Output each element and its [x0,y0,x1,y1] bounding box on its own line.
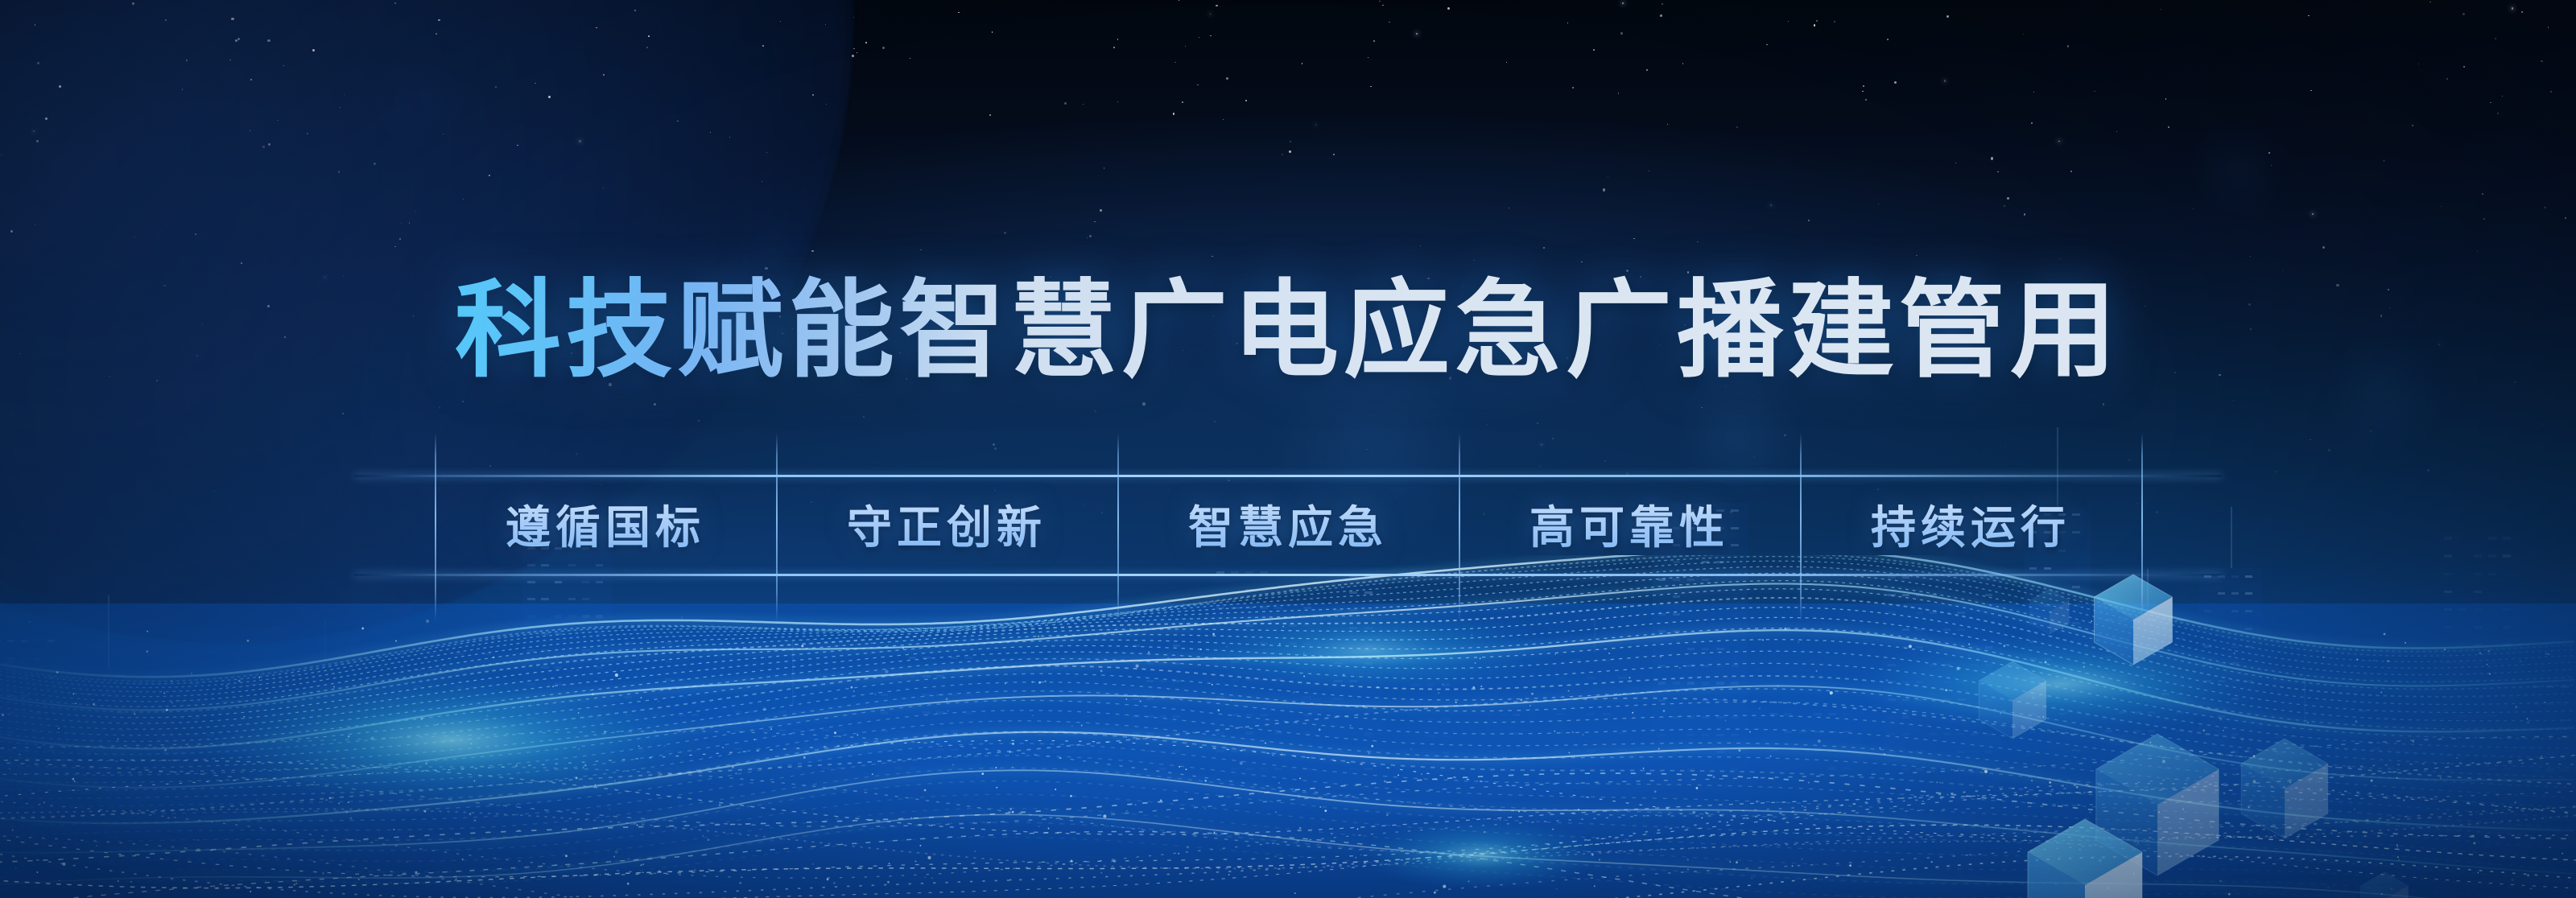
wave-particle [834,731,836,734]
star [1660,14,1662,17]
wave-particle [74,781,76,782]
star [853,48,854,49]
star [1004,232,1006,234]
star [1174,62,1175,63]
wave-particle [2091,620,2092,622]
wave-particle [1455,702,1457,703]
wave-particle [29,621,31,623]
wave-particle [1319,806,1321,808]
bokeh-circle [2190,121,2286,217]
wave-particle [708,838,710,841]
wave-particle [1970,854,1972,856]
wave-particle [1070,795,1072,797]
wave-particle [474,819,477,822]
wave-particle [2133,873,2135,875]
wave-particle [118,739,119,740]
wave-particle [1350,725,1352,727]
wave-particle [2234,653,2235,654]
star [2060,258,2061,259]
wave-particle [2242,739,2244,740]
star [1197,84,1198,85]
wave-particle [1230,700,1232,702]
wave-particle [637,825,638,826]
wave-particle [2307,722,2309,723]
wave-particle [2541,756,2543,758]
wave-particle [2355,720,2358,723]
wave-particle [1777,685,1779,686]
wave-particle [1386,814,1389,816]
wave-particle [2545,702,2546,703]
wave-particle [1480,686,1482,687]
star [1389,22,1389,23]
wave-particle [1759,707,1761,709]
wave-particle [1217,709,1220,711]
wave-particle [641,864,642,866]
wave-particle [171,702,173,703]
star [1662,3,1663,5]
wave-particle [118,880,119,882]
star [2463,66,2465,68]
wave-particle [952,764,954,765]
wave-particle [2148,847,2149,849]
wave-particle [708,869,710,871]
wave-particle [1756,801,1758,803]
wave-particle [2397,856,2399,858]
subtitle-item-3: 高可靠性 [1459,492,1800,557]
star [1509,208,1509,208]
star [992,31,993,32]
star [1997,171,1998,172]
wave-particle [75,702,76,704]
wave-particle [1888,826,1889,828]
wave-particle [1100,872,1102,874]
wave-particle [1368,752,1370,754]
wave-particle [609,809,611,810]
star [2495,38,2496,39]
wave-particle [1696,787,1699,789]
wave-particle [801,645,803,648]
wave-particle [1749,731,1751,733]
wave-particle [1984,770,1988,773]
wave-particle [2252,780,2256,783]
wave-particle [250,891,251,892]
wave-particle [1554,731,1555,732]
wave-particle [2403,800,2405,801]
star [1104,167,1104,168]
wave-particle [294,884,295,886]
wave-particle [2269,759,2271,760]
star [1816,20,1818,22]
wave-particle [658,870,661,872]
star [1622,2,1624,4]
wave-particle [257,800,258,801]
wave-particle [1126,810,1128,812]
star [1758,392,1759,393]
wave-particle [393,829,394,830]
wave-particle [1663,710,1666,712]
wave-particle [493,657,494,658]
wave-particle [15,867,17,869]
star [1210,35,1211,36]
wave-particle [358,879,360,880]
star [2094,91,2095,92]
wave-particle [1186,768,1187,770]
wave-particle [1578,809,1579,810]
star [2483,218,2484,219]
wave-particle [1009,808,1012,810]
wave-particle [2373,660,2375,661]
wave-particle [1204,780,1207,782]
subtitle-item-1: 守正创新 [776,492,1117,557]
wave-particle [2289,781,2291,783]
star [1916,255,1917,256]
wave-particle [43,801,45,803]
wave-particle [1384,781,1386,783]
star [1834,21,1835,23]
star [993,443,995,446]
wave-particle [1931,861,1933,863]
wave-particle [848,747,850,748]
wave-particle [171,681,172,682]
wave-particle [2107,887,2109,889]
star [2446,78,2448,80]
wave-particle [1725,720,1727,722]
wave-particle [1397,774,1399,776]
wave-particle [833,882,836,884]
star [2462,13,2465,15]
star [1944,80,1946,81]
wave-particle [1830,691,1833,694]
star [2384,160,2384,161]
wave-particle [1879,747,1881,749]
star [1697,241,1698,242]
tech-banner: 科技赋能智慧广电应急广播建管用 遵循国标 守正创新 智慧应急 高可靠性 持续运行 [0,0,2576,898]
wave-particle [1554,653,1556,655]
star [1223,119,1224,120]
wave-particle [1643,768,1645,769]
wave-particle [1713,776,1715,778]
star [1179,0,1179,1]
star [2165,98,2166,99]
wave-particle [1009,879,1011,880]
wave-particle [615,673,618,677]
star [2550,91,2552,93]
wave-particle [2253,755,2256,757]
wave-particle [1736,861,1738,863]
wave-particle [1212,684,1213,686]
star [1212,256,1212,257]
wave-particle [2444,649,2446,650]
wave-particle [1319,728,1321,731]
wave-particle [197,839,199,841]
wave-particle [2089,811,2091,814]
wave-particle [1687,868,1689,870]
wave-particle [931,877,933,879]
wave-particle [1434,892,1436,894]
star [1955,163,1956,163]
wave-particle [681,616,683,618]
wave-particle [2527,718,2529,719]
wave-particle [1647,691,1649,693]
wave-particle [2158,811,2160,813]
wave-particle [791,629,793,632]
wave-particle [2515,706,2517,708]
wave-particle [902,648,904,649]
star [1214,421,1216,422]
wave-particle [98,810,100,812]
wave-particle [27,812,29,814]
wave-particle [1012,743,1014,745]
star [1667,124,1668,125]
wave-particle [1299,827,1302,830]
wave-particle [469,813,472,815]
wave-particle [1556,888,1558,890]
wave-particle [1802,805,1803,807]
star [1182,101,1183,103]
wave-particle [93,703,95,706]
wave-particle [1275,855,1277,857]
wave-particle [72,778,75,781]
wave-particle [919,845,921,847]
wave-particle [1802,859,1803,860]
wave-particle [62,863,65,866]
wave-particle [415,871,418,874]
star [1100,209,1102,212]
wave-particle [1125,698,1127,700]
star [1245,100,1247,101]
subtitle-items: 遵循国标 守正创新 智慧应急 高可靠性 持续运行 [0,475,2576,574]
wave-particle [874,694,876,695]
wave-particle [1583,734,1584,735]
star [1290,141,1291,142]
wave-particle [1531,693,1534,695]
wave-particle [518,830,520,831]
wave-particle [1629,677,1630,678]
wave-particle [1767,818,1769,821]
wave-particle [1936,781,1938,783]
star [1117,101,1118,102]
wave-particle [2384,633,2386,636]
wave-particle [924,789,927,792]
wave-particle [1103,814,1106,818]
star [2070,171,2072,172]
wave-particle [146,650,148,653]
wave-particle [2354,809,2355,810]
star [1302,63,1302,64]
wave-particle [338,802,340,804]
wave-particle [996,787,997,789]
star [2322,246,2325,249]
wave-particle [1438,692,1439,694]
star [1788,21,1789,22]
wave-particle [2396,777,2398,779]
wave-particle [642,863,644,865]
wave-particle [1032,682,1034,683]
wave-particle [2530,888,2532,890]
star [958,12,959,13]
wave-particle [164,749,167,752]
star [2168,126,2169,128]
star [2308,15,2309,16]
wave-particle [2512,879,2514,881]
wave-particle [2327,887,2329,888]
wave-particle [346,812,348,814]
wave-particle [927,856,931,859]
wave-particle [424,810,427,813]
wave-particle [147,631,148,632]
wave-particle [2514,801,2516,804]
wave-particle [2295,798,2297,800]
wave-particle [1572,731,1574,733]
wave-particle [247,640,250,642]
wave-particle [1038,682,1041,684]
wave-particle [2396,844,2398,846]
wave-particle [1009,752,1010,753]
wave-particle [2487,664,2488,665]
star [1370,86,1371,87]
star [2033,92,2034,93]
star [2512,7,2513,9]
wave-particle [1272,755,1274,756]
wave-particle [72,693,74,694]
wave-particle [2049,781,2051,784]
wave-particle [2223,793,2225,794]
wave-particle [2099,859,2102,862]
wave-particle [924,876,926,878]
wave-particle [2219,879,2222,882]
star [1537,422,1538,424]
wave-particle [1044,680,1046,682]
subtitle-item-2: 智慧应急 [1117,492,1459,557]
wave-particle [1012,811,1014,814]
star [989,114,991,116]
wave-particle [947,711,949,712]
wave-particle [735,772,737,774]
star [1878,204,1879,204]
wave-particle [19,754,20,756]
wave-particle [462,859,464,860]
star [1210,14,1211,14]
wave-particle [1140,701,1141,702]
wave-particle [2182,795,2184,797]
wave-particle [12,830,14,831]
wave-particle [456,879,457,880]
star [1199,37,1199,38]
star [2565,217,2566,219]
wave-particle [59,879,60,881]
wave-particle [130,881,132,883]
wave-particle [1701,817,1703,818]
wave-particle [627,883,630,885]
wave-particle [2447,755,2449,756]
wave-particle [889,863,890,864]
wave-particle [1240,761,1243,764]
wave-particle [1005,682,1006,684]
wave-particle [1160,800,1162,801]
wave-particle [1632,712,1633,714]
wave-particle [191,673,192,674]
wave-particle [565,855,568,857]
wave-particle [857,734,858,735]
wave-particle [1148,652,1150,653]
wave-particle [1654,790,1657,793]
star [2490,102,2491,103]
wave-particle [915,860,917,862]
star [1646,69,1648,71]
wave-svg [0,555,2576,898]
star [2482,193,2483,195]
wave-particle [2489,673,2491,675]
star [1946,15,1949,18]
star [910,58,910,59]
subtitle-bar: 遵循国标 守正创新 智慧应急 高可靠性 持续运行 [0,451,2576,603]
wave-particle [1038,826,1039,827]
star [1552,438,1554,439]
star [882,47,885,49]
star [1620,32,1622,34]
star [2548,27,2549,27]
wave-particle [1947,794,1949,796]
star [2497,113,2499,114]
wave-particle [1808,782,1810,784]
star [1382,5,1383,6]
wave-particle [1926,838,1927,840]
star [1282,154,1283,155]
star [1581,262,1582,262]
wave-particle [56,671,59,673]
wave-particle [167,817,170,819]
star [2541,60,2542,62]
wave-particle [2182,809,2184,810]
wave-particle [995,767,997,768]
wave-particle [2083,792,2086,794]
wave-particle [2381,893,2383,895]
wave-particle [2405,642,2406,644]
particle-wave-landscape [0,555,2576,898]
star [2477,250,2478,251]
subtitle-item-0: 遵循国标 [435,492,776,557]
star [1094,221,1095,222]
star [1368,57,1368,58]
wave-particle [1100,669,1103,672]
wave-particle [1679,667,1681,669]
wave-particle [1265,743,1266,744]
wave-particle [2548,653,2550,656]
star [1618,93,1619,93]
star [1540,443,1542,446]
wave-particle [166,709,168,711]
star [2193,208,2194,209]
star [1649,171,1649,171]
wave-particle [2,714,4,716]
wave-particle [407,861,408,863]
star [2233,400,2234,401]
star [1862,91,1863,92]
star [2004,205,2005,207]
wave-particle [981,772,984,775]
wave-particle [613,856,615,858]
wave-particle [1362,705,1364,707]
wave-particle [753,739,755,740]
wave-particle [1055,789,1056,790]
star [1736,126,1738,128]
wave-particle [1818,739,1821,743]
star [2067,45,2069,47]
wave-particle [2520,661,2521,662]
wave-particle [1297,794,1300,797]
wave-particle [134,713,135,715]
star [1089,235,1092,237]
